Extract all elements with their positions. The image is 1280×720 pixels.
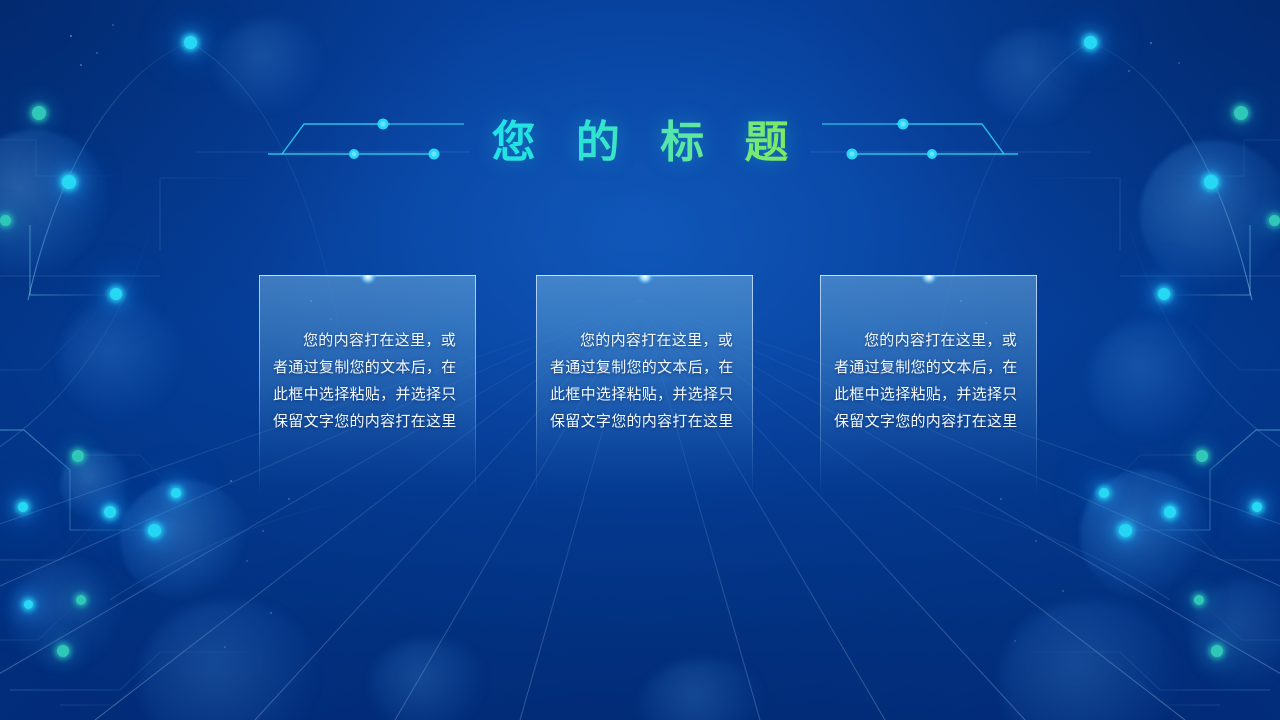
network-node bbox=[184, 36, 197, 49]
bokeh-circle bbox=[60, 300, 180, 420]
network-node bbox=[104, 506, 116, 518]
bokeh-circle bbox=[215, 20, 325, 110]
network-node bbox=[1196, 450, 1208, 462]
bokeh-circle bbox=[1090, 320, 1210, 440]
network-node bbox=[1211, 645, 1223, 657]
star-speck bbox=[288, 498, 290, 500]
star-speck bbox=[1062, 590, 1064, 592]
content-card-1[interactable]: 您的内容打在这里，或者通过复制您的文本后，在此框中选择粘贴，并选择只保留文字您的… bbox=[259, 275, 476, 497]
bokeh-circle bbox=[60, 450, 130, 520]
content-card-3[interactable]: 您的内容打在这里，或者通过复制您的文本后，在此框中选择粘贴，并选择只保留文字您的… bbox=[820, 275, 1037, 497]
star-speck bbox=[70, 35, 72, 37]
network-node bbox=[1099, 488, 1109, 498]
star-speck bbox=[1150, 42, 1152, 44]
network-node bbox=[62, 175, 76, 189]
star-speck bbox=[96, 52, 98, 54]
bokeh-circle bbox=[370, 640, 490, 720]
network-node bbox=[1164, 506, 1176, 518]
network-node bbox=[1158, 288, 1170, 300]
star-speck bbox=[112, 24, 114, 26]
network-node bbox=[1252, 502, 1262, 512]
star-speck bbox=[246, 560, 248, 562]
card-body-text: 您的内容打在这里，或者通过复制您的文本后，在此框中选择粘贴，并选择只保留文字您的… bbox=[536, 275, 753, 435]
star-speck bbox=[1128, 70, 1130, 72]
content-card-2[interactable]: 您的内容打在这里，或者通过复制您的文本后，在此框中选择粘贴，并选择只保留文字您的… bbox=[536, 275, 753, 497]
presentation-slide: 您 的 标 题 您的内容打在这里，或者通过复制您的文本后，在此框中选择粘贴，并选… bbox=[0, 0, 1280, 720]
network-node bbox=[1194, 595, 1204, 605]
network-node bbox=[24, 600, 33, 609]
network-node bbox=[110, 288, 122, 300]
card-body-text: 您的内容打在这里，或者通过复制您的文本后，在此框中选择粘贴，并选择只保留文字您的… bbox=[820, 275, 1037, 435]
card-body-text: 您的内容打在这里，或者通过复制您的文本后，在此框中选择粘贴，并选择只保留文字您的… bbox=[259, 275, 476, 435]
star-speck bbox=[1000, 498, 1002, 500]
star-speck bbox=[270, 612, 272, 614]
title-row: 您 的 标 题 bbox=[0, 102, 1280, 174]
star-speck bbox=[1014, 640, 1016, 642]
network-node bbox=[1204, 175, 1218, 189]
network-node bbox=[148, 524, 161, 537]
network-node bbox=[1269, 215, 1280, 226]
star-speck bbox=[1178, 62, 1180, 64]
network-node bbox=[171, 488, 181, 498]
star-speck bbox=[80, 64, 82, 66]
bokeh-circle bbox=[120, 480, 250, 600]
star-speck bbox=[1035, 540, 1037, 542]
star-speck bbox=[224, 646, 226, 648]
network-node bbox=[1084, 36, 1097, 49]
network-node bbox=[1119, 524, 1132, 537]
network-node bbox=[0, 215, 11, 226]
network-node bbox=[18, 502, 28, 512]
star-speck bbox=[230, 480, 232, 482]
page-title: 您 的 标 题 bbox=[478, 106, 803, 170]
star-speck bbox=[262, 530, 264, 532]
network-node bbox=[57, 645, 69, 657]
network-node bbox=[72, 450, 84, 462]
network-node bbox=[76, 595, 86, 605]
